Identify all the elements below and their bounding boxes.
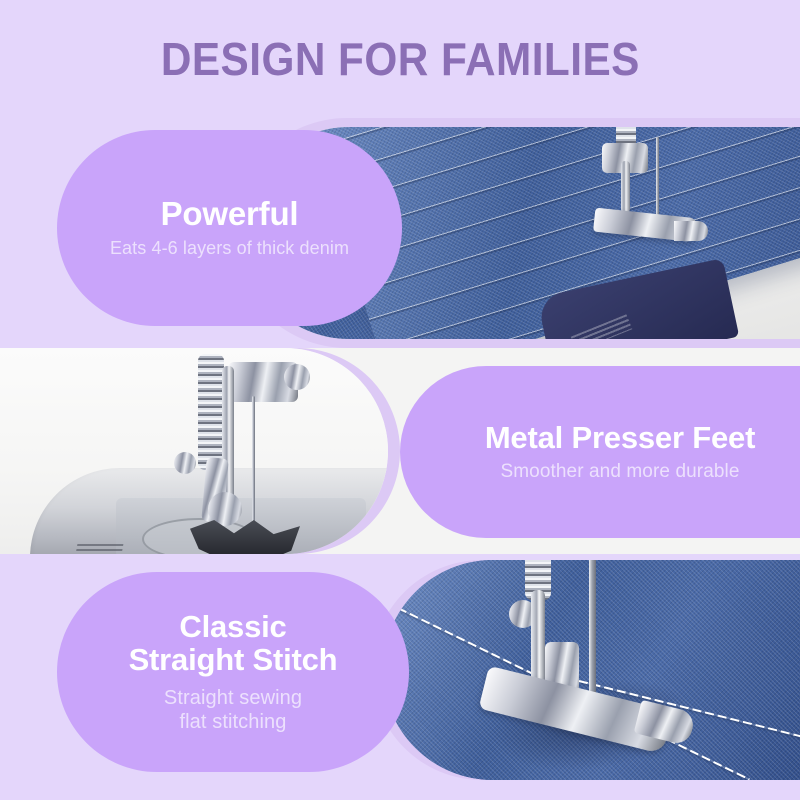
header-banner: DESIGN FOR FAMILIES	[0, 0, 800, 118]
feature-title-classic-straight-stitch: Classic Straight Stitch	[129, 610, 338, 676]
presser-foot-graphic	[487, 560, 717, 776]
feature-subtitle-classic-straight-stitch: Straight sewing flat stitching	[164, 686, 302, 734]
feature-capsule-metal-presser-feet: Metal Presser Feet Smoother and more dur…	[400, 366, 800, 538]
feature-subtitle-powerful: Eats 4-6 layers of thick denim	[110, 238, 349, 260]
feature-capsule-classic-straight-stitch: Classic Straight Stitch Straight sewing …	[57, 572, 409, 772]
chrome-presser-foot-assembly-photo	[0, 348, 388, 554]
presser-foot-graphic	[156, 354, 356, 554]
presser-foot-graphic	[582, 127, 712, 271]
bottom-background-strip	[0, 780, 800, 800]
feature-title-metal-presser-feet: Metal Presser Feet	[485, 421, 755, 454]
feature-subtitle-metal-presser-feet: Smoother and more durable	[500, 461, 739, 484]
feature-title-powerful: Powerful	[161, 196, 299, 231]
straight-stitch-on-denim-photo	[383, 560, 800, 780]
infographic-canvas: DESIGN FOR FAMILIES Powerful Eats 4-6 la…	[0, 0, 800, 800]
page-title: DESIGN FOR FAMILIES	[160, 36, 639, 82]
feature-capsule-powerful: Powerful Eats 4-6 layers of thick denim	[57, 130, 402, 326]
